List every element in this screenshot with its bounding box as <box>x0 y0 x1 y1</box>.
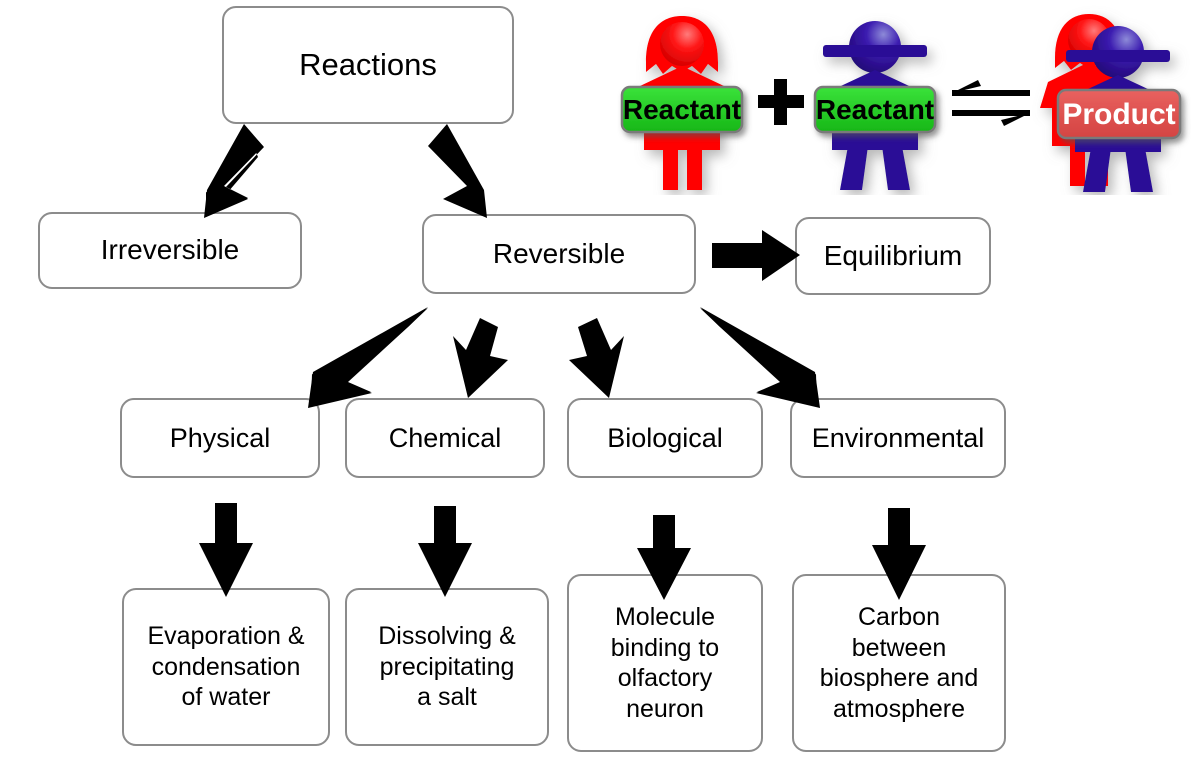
arrow-reversible-to-physical <box>308 307 428 408</box>
sign-reactant-b-label: Reactant <box>816 94 934 125</box>
arrow-reversible-to-chemical <box>453 318 508 398</box>
sign-product: Product <box>1058 90 1180 138</box>
node-irreversible-label: Irreversible <box>95 233 245 267</box>
node-reversible-label: Reversible <box>487 237 631 271</box>
node-example-biological-label: Molecule binding to olfactory neuron <box>605 602 725 724</box>
node-example-physical: Evaporation & condensation of water <box>122 588 330 746</box>
hat-brim <box>823 45 927 57</box>
sign-reactant-b: Reactant <box>815 87 935 132</box>
equilibrium-arrow-icon <box>952 80 1030 126</box>
node-reactions: Reactions <box>222 6 514 124</box>
node-physical-label: Physical <box>164 422 277 455</box>
node-biological: Biological <box>567 398 763 478</box>
node-physical: Physical <box>120 398 320 478</box>
sign-reactant-a-label: Reactant <box>623 94 741 125</box>
arrow-reversible-to-environmental <box>700 307 820 408</box>
node-example-chemical: Dissolving & precipitating a salt <box>345 588 549 746</box>
node-reactions-label: Reactions <box>293 46 443 84</box>
node-example-physical-label: Evaporation & condensation of water <box>141 621 310 713</box>
arrow-reactions-to-reversible <box>428 124 487 218</box>
head-female <box>660 22 704 66</box>
node-chemical: Chemical <box>345 398 545 478</box>
arrow-reactions-to-irreversible <box>204 124 264 218</box>
node-equilibrium-label: Equilibrium <box>818 239 969 273</box>
node-example-environmental: Carbon between biosphere and atmosphere <box>792 574 1006 752</box>
plus-icon <box>758 79 804 125</box>
node-example-environmental-label: Carbon between biosphere and atmosphere <box>814 602 984 724</box>
node-reversible: Reversible <box>422 214 696 294</box>
node-equilibrium: Equilibrium <box>795 217 991 295</box>
arrow-reversible-to-equilibrium <box>712 230 800 281</box>
node-irreversible: Irreversible <box>38 212 302 289</box>
node-biological-label: Biological <box>601 422 729 455</box>
arrow-physical-to-example <box>199 503 253 597</box>
arrow-reversible-to-biological <box>569 318 624 398</box>
node-chemical-label: Chemical <box>383 422 508 455</box>
node-example-biological: Molecule binding to olfactory neuron <box>567 574 763 752</box>
sign-product-label: Product <box>1062 98 1175 131</box>
node-environmental: Environmental <box>790 398 1006 478</box>
arrow-chemical-to-example <box>418 506 472 597</box>
node-example-chemical-label: Dissolving & precipitating a salt <box>372 621 522 713</box>
reaction-illustration: Reactant Reactant <box>600 0 1193 195</box>
diagram-canvas: Reactions Irreversible Reversible Equili… <box>0 0 1193 769</box>
node-environmental-label: Environmental <box>806 422 991 455</box>
sign-reactant-a: Reactant <box>622 87 742 132</box>
